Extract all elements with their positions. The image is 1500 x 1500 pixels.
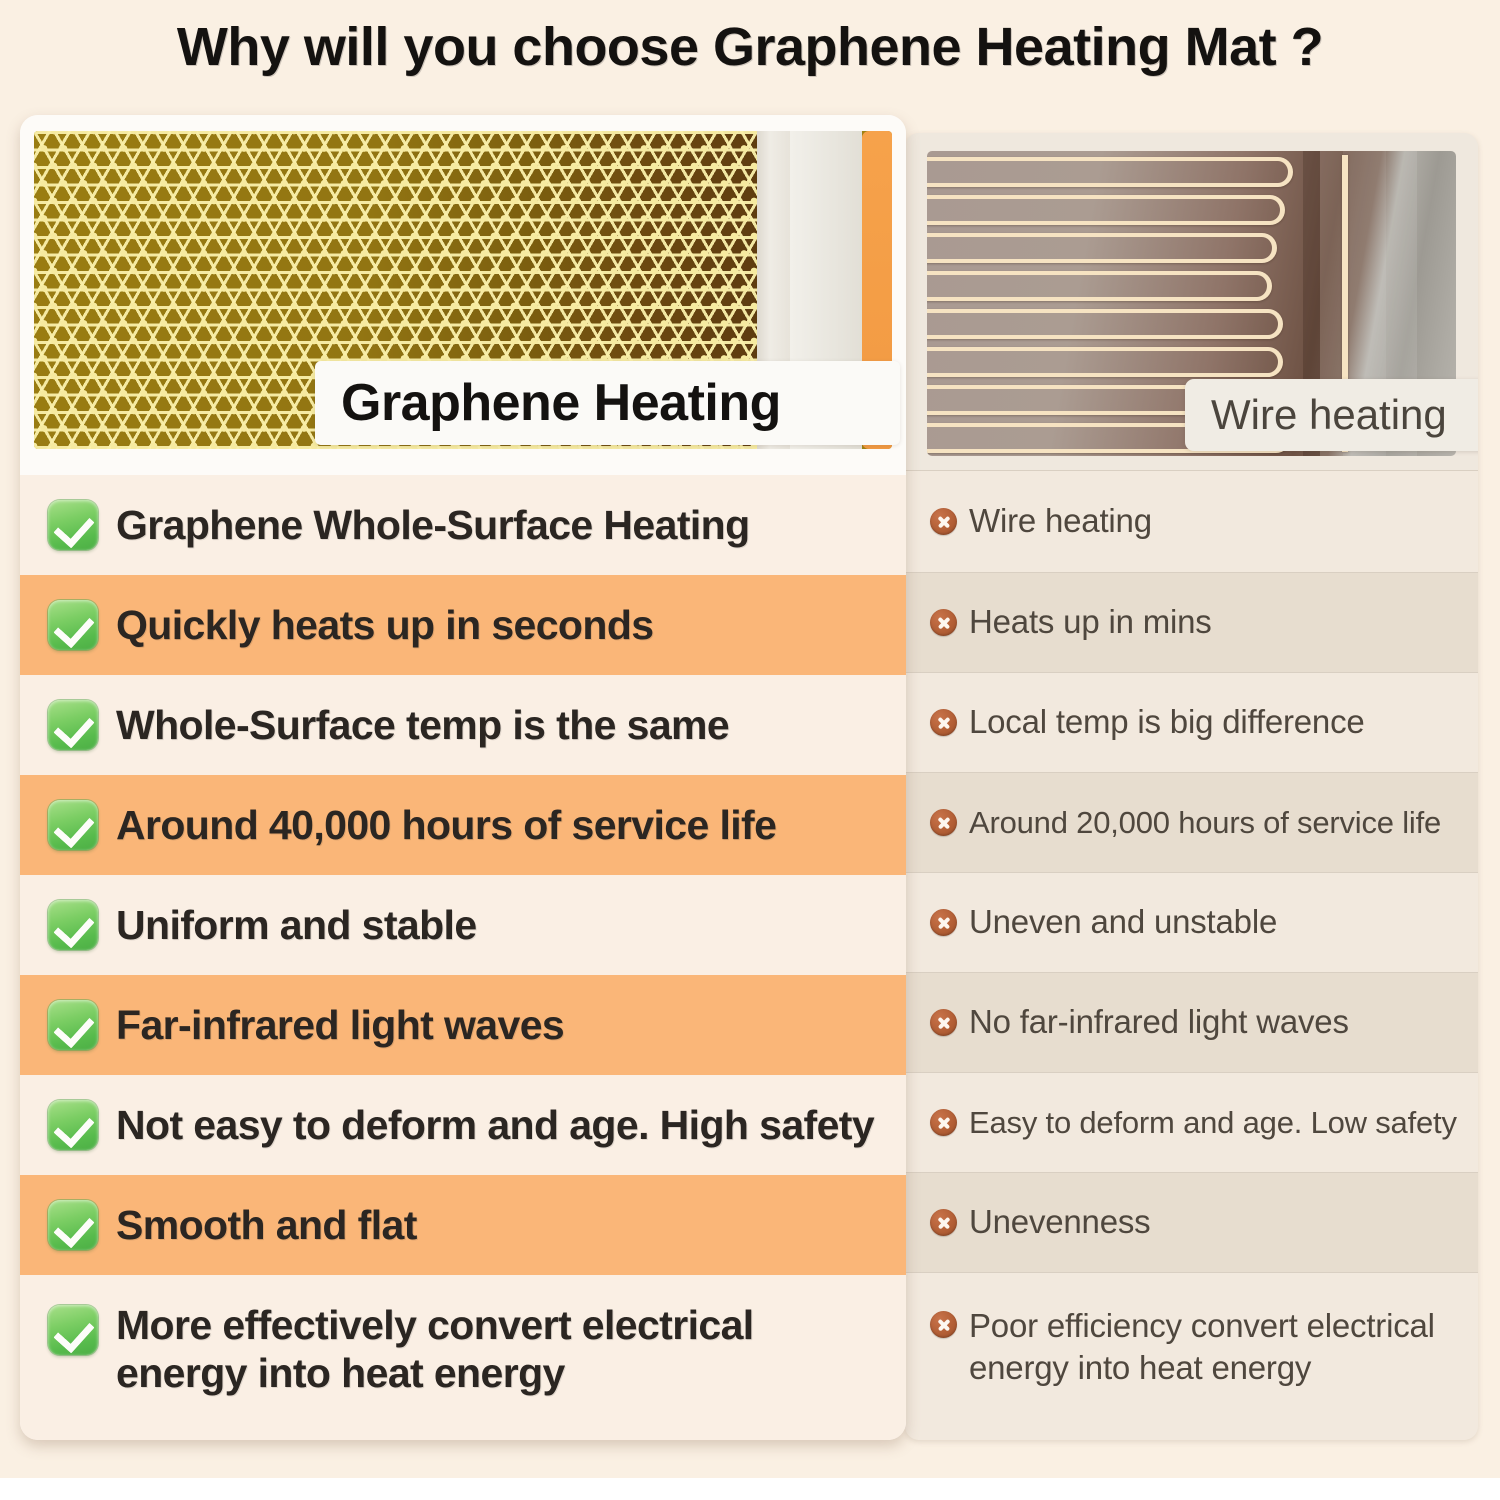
- graphene-row-5-text: Uniform and stable: [116, 901, 477, 949]
- rust-cross-icon: [930, 1311, 957, 1338]
- wire-row-3-text: Local temp is big difference: [969, 701, 1365, 743]
- wire-row-4-text: Around 20,000 hours of service life: [969, 803, 1441, 843]
- wire-row-5: Uneven and unstable: [905, 872, 1478, 972]
- green-check-icon: [48, 1200, 98, 1250]
- wire-heating-card: Wire heating Wire heating Heats up in mi…: [905, 133, 1478, 1440]
- wire-row-4: Around 20,000 hours of service life: [905, 772, 1478, 872]
- graphene-row-1-text: Graphene Whole-Surface Heating: [116, 501, 750, 549]
- graphene-row-5: Uniform and stable: [20, 875, 906, 975]
- graphene-row-2-text: Quickly heats up in seconds: [116, 601, 653, 649]
- graphene-row-8-text: Smooth and flat: [116, 1201, 417, 1249]
- graphene-row-1: Graphene Whole-Surface Heating: [20, 475, 906, 575]
- green-check-icon: [48, 700, 98, 750]
- page-title: Why will you choose Graphene Heating Mat…: [0, 16, 1500, 78]
- graphene-heating-card: Graphene Heating Graphene Whole-Surface …: [20, 115, 906, 1440]
- wire-row-8: Unevenness: [905, 1172, 1478, 1272]
- graphene-row-7: Not easy to deform and age. High safety: [20, 1075, 906, 1175]
- graphene-row-7-text: Not easy to deform and age. High safety: [116, 1101, 874, 1149]
- graphene-row-6-text: Far-infrared light waves: [116, 1001, 564, 1049]
- graphene-row-2: Quickly heats up in seconds: [20, 575, 906, 675]
- graphene-row-9-text: More effectively convert electrical ener…: [116, 1301, 796, 1398]
- graphene-row-6: Far-infrared light waves: [20, 975, 906, 1075]
- wire-row-1: Wire heating: [905, 470, 1478, 572]
- rust-cross-icon: [930, 809, 957, 836]
- wire-row-1-text: Wire heating: [969, 500, 1152, 542]
- rust-cross-icon: [930, 909, 957, 936]
- wire-row-9-text: Poor efficiency convert electrical energ…: [969, 1305, 1439, 1389]
- green-check-icon: [48, 500, 98, 550]
- green-check-icon: [48, 800, 98, 850]
- graphene-row-3: Whole-Surface temp is the same: [20, 675, 906, 775]
- wire-row-2: Heats up in mins: [905, 572, 1478, 672]
- green-check-icon: [48, 1305, 98, 1355]
- wire-heating-label: Wire heating: [1185, 379, 1478, 451]
- rust-cross-icon: [930, 1009, 957, 1036]
- graphene-row-8: Smooth and flat: [20, 1175, 906, 1275]
- graphene-row-4: Around 40,000 hours of service life: [20, 775, 906, 875]
- wire-row-6: No far-infrared light waves: [905, 972, 1478, 1072]
- infographic-page: Why will you choose Graphene Heating Mat…: [0, 0, 1500, 1500]
- bottom-white-strip: [0, 1478, 1500, 1500]
- wire-row-3: Local temp is big difference: [905, 672, 1478, 772]
- green-check-icon: [48, 600, 98, 650]
- wire-row-9: Poor efficiency convert electrical energ…: [905, 1272, 1478, 1440]
- wire-row-7-text: Easy to deform and age. Low safety: [969, 1103, 1457, 1143]
- wire-row-5-text: Uneven and unstable: [969, 901, 1277, 943]
- wire-row-2-text: Heats up in mins: [969, 601, 1212, 643]
- wire-row-7: Easy to deform and age. Low safety: [905, 1072, 1478, 1172]
- wire-row-6-text: No far-infrared light waves: [969, 1001, 1349, 1043]
- graphene-row-4-text: Around 40,000 hours of service life: [116, 801, 776, 849]
- rust-cross-icon: [930, 1209, 957, 1236]
- green-check-icon: [48, 900, 98, 950]
- wire-row-8-text: Unevenness: [969, 1201, 1150, 1243]
- rust-cross-icon: [930, 1109, 957, 1136]
- graphene-row-9: More effectively convert electrical ener…: [20, 1275, 906, 1440]
- rust-cross-icon: [930, 609, 957, 636]
- rust-cross-icon: [930, 508, 957, 535]
- graphene-row-3-text: Whole-Surface temp is the same: [116, 701, 729, 749]
- green-check-icon: [48, 1100, 98, 1150]
- graphene-heating-label: Graphene Heating: [315, 361, 900, 445]
- green-check-icon: [48, 1000, 98, 1050]
- rust-cross-icon: [930, 709, 957, 736]
